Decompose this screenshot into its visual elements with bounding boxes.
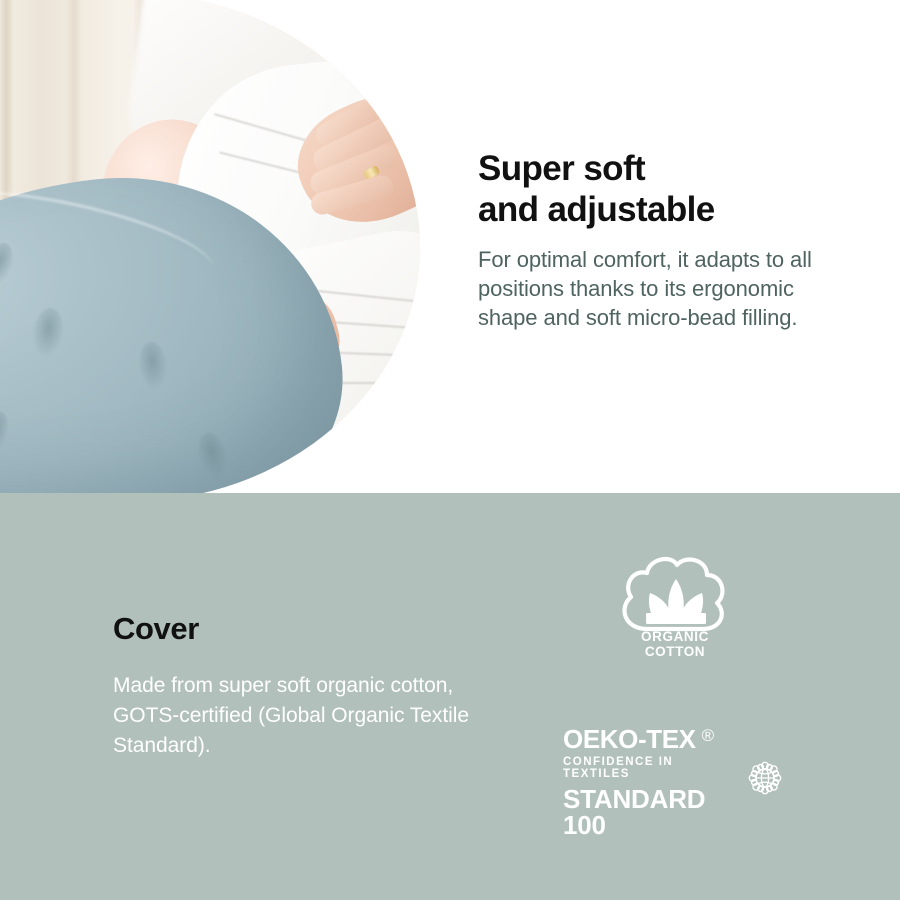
cover-body-text: Made from super soft organic cotton, GOT… xyxy=(113,671,513,760)
oeko-tagline: CONFIDENCE IN TEXTILES xyxy=(563,757,743,780)
bottom-section: Cover Made from super soft organic cotto… xyxy=(0,493,900,900)
top-text-block: Super soft and adjustable For optimal co… xyxy=(478,148,858,332)
photo-inner xyxy=(0,0,420,502)
oeko-title-row: OEKO-TEX ® xyxy=(563,726,743,752)
oeko-tex-globe-flower-icon xyxy=(739,752,791,804)
organic-label-line-2: COTTON xyxy=(615,644,735,659)
cotton-boll-icon xyxy=(615,555,735,633)
organic-cotton-badge: ORGANIC COTTON xyxy=(615,555,735,670)
oeko-tex-badge: OEKO-TEX ® CONFIDENCE IN TEXTILES STANDA… xyxy=(563,726,798,806)
top-heading-line-2: and adjustable xyxy=(478,189,858,230)
cover-text-block: Cover Made from super soft organic cotto… xyxy=(113,611,513,760)
organic-cotton-label: ORGANIC COTTON xyxy=(615,629,735,659)
cover-heading: Cover xyxy=(113,611,513,647)
top-heading: Super soft and adjustable xyxy=(478,148,858,231)
organic-label-line-1: ORGANIC xyxy=(615,629,735,644)
oeko-text-block: OEKO-TEX ® CONFIDENCE IN TEXTILES STANDA… xyxy=(563,726,743,838)
top-body-text: For optimal comfort, it adapts to all po… xyxy=(478,245,858,333)
oeko-title: OEKO-TEX xyxy=(563,726,696,752)
lifestyle-photo xyxy=(0,0,420,502)
top-section: Super soft and adjustable For optimal co… xyxy=(0,0,900,493)
top-heading-line-1: Super soft xyxy=(478,149,645,188)
registered-mark-icon: ® xyxy=(702,727,714,744)
oeko-standard: STANDARD 100 xyxy=(563,786,743,838)
product-feature-page: Super soft and adjustable For optimal co… xyxy=(0,0,900,900)
